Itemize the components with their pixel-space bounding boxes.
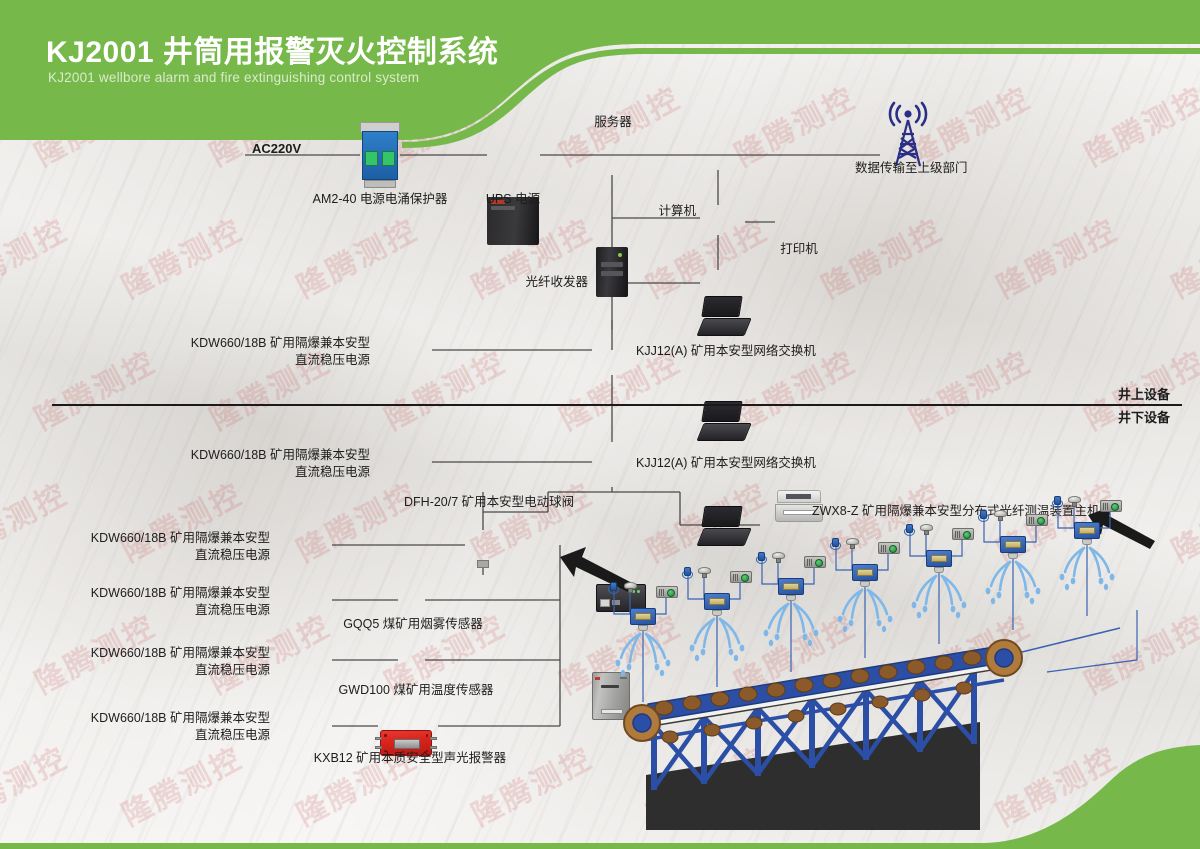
station-smoke-sensor — [624, 579, 637, 593]
valve-stem — [477, 560, 489, 568]
computer-device-2 — [700, 401, 748, 441]
station-control-box — [1074, 522, 1100, 539]
label-ac220v: AC220V — [252, 140, 301, 157]
station-control-box — [926, 550, 952, 567]
label-line1: KDW660/18B 矿用隔爆兼本安型 — [50, 585, 270, 602]
station-temp-sensor — [830, 536, 841, 550]
label-power-supply-underground-4: KDW660/18B 矿用隔爆兼本安型 直流稳压电源 — [50, 645, 270, 679]
station-control-box — [852, 564, 878, 581]
label-surge-protector: AM2-40 电源电涌保护器 — [305, 191, 455, 208]
label-line1: KDW660/18B 矿用隔爆兼本安型 — [50, 530, 270, 547]
computer-device-1 — [700, 296, 748, 336]
label-printer: 打印机 — [759, 241, 839, 258]
label-computer: 计算机 — [598, 203, 696, 220]
label-switch-surface: KJJ12(A) 矿用本安型网络交换机 — [636, 343, 816, 360]
station-temp-sensor — [978, 508, 989, 522]
station-temp-sensor — [1052, 494, 1063, 508]
label-switch-underground: KJJ12(A) 矿用本安型网络交换机 — [636, 455, 816, 472]
label-smoke-sensor: GQQ5 煤矿用烟雾传感器 — [338, 616, 488, 633]
sprinkler-station — [1040, 488, 1150, 618]
diagram-canvas: 隆腾测控隆腾测控隆腾测控隆腾测控隆腾测控隆腾测控隆腾测控隆腾测控隆腾测控隆腾测控… — [0, 0, 1200, 849]
label-line2: 直流稳压电源 — [50, 602, 270, 619]
label-sound-light-alarm: KXB12 矿用本质安全型声光报警器 — [310, 750, 510, 767]
label-power-supply-underground-2: KDW660/18B 矿用隔爆兼本安型 直流稳压电源 — [50, 530, 270, 564]
label-power-supply-underground-5: KDW660/18B 矿用隔爆兼本安型 直流稳压电源 — [50, 710, 270, 744]
station-smoke-sensor — [920, 521, 933, 535]
station-nozzle — [1082, 539, 1092, 545]
label-temp-sensor: GWD100 煤矿用温度传感器 — [332, 682, 500, 699]
station-smoke-sensor — [1068, 493, 1081, 507]
label-fiber-converter: 光纤收发器 — [500, 274, 588, 291]
station-nozzle — [860, 581, 870, 587]
station-nozzle — [786, 595, 796, 601]
station-control-box — [704, 593, 730, 610]
label-line2: 直流稳压电源 — [150, 352, 370, 369]
label-below-ground: 井下设备 — [1118, 409, 1170, 426]
antenna-icon — [880, 100, 936, 168]
station-smoke-sensor — [994, 507, 1007, 521]
label-ball-valve: DFH-20/7 矿用本安型电动球阀 — [404, 494, 574, 511]
station-nozzle — [1008, 553, 1018, 559]
station-temp-sensor — [682, 565, 693, 579]
station-temp-sensor — [904, 522, 915, 536]
station-nozzle — [638, 625, 648, 631]
station-smoke-sensor — [846, 535, 859, 549]
label-line2: 直流稳压电源 — [50, 547, 270, 564]
label-power-supply-underground-1: KDW660/18B 矿用隔爆兼本安型 直流稳压电源 — [150, 447, 370, 481]
station-alarm — [1100, 500, 1122, 512]
surge-protector-device — [360, 122, 400, 188]
label-line2: 直流稳压电源 — [50, 727, 270, 744]
station-smoke-sensor — [772, 549, 785, 563]
label-line2: 直流稳压电源 — [50, 662, 270, 679]
station-control-box — [778, 578, 804, 595]
station-control-box — [630, 608, 656, 625]
label-line2: 直流稳压电源 — [150, 464, 370, 481]
label-line1: KDW660/18B 矿用隔爆兼本安型 — [150, 335, 370, 352]
label-power-supply-underground-3: KDW660/18B 矿用隔爆兼本安型 直流稳压电源 — [50, 585, 270, 619]
label-line1: KDW660/18B 矿用隔爆兼本安型 — [50, 710, 270, 727]
station-nozzle — [712, 610, 722, 616]
station-temp-sensor — [756, 550, 767, 564]
station-control-box — [1000, 536, 1026, 553]
station-temp-sensor — [608, 580, 619, 594]
label-server: 服务器 — [574, 114, 652, 131]
label-line1: KDW660/18B 矿用隔爆兼本安型 — [150, 447, 370, 464]
label-above-ground: 井上设备 — [1118, 386, 1170, 403]
station-smoke-sensor — [698, 564, 711, 578]
label-ups: UPS 电源 — [473, 191, 553, 208]
label-uplink: 数据传输至上级部门 — [855, 160, 968, 177]
surface-underground-divider — [52, 404, 1182, 406]
station-nozzle — [934, 567, 944, 573]
label-line1: KDW660/18B 矿用隔爆兼本安型 — [50, 645, 270, 662]
label-power-supply-surface: KDW660/18B 矿用隔爆兼本安型 直流稳压电源 — [150, 335, 370, 369]
server-device — [596, 247, 628, 297]
